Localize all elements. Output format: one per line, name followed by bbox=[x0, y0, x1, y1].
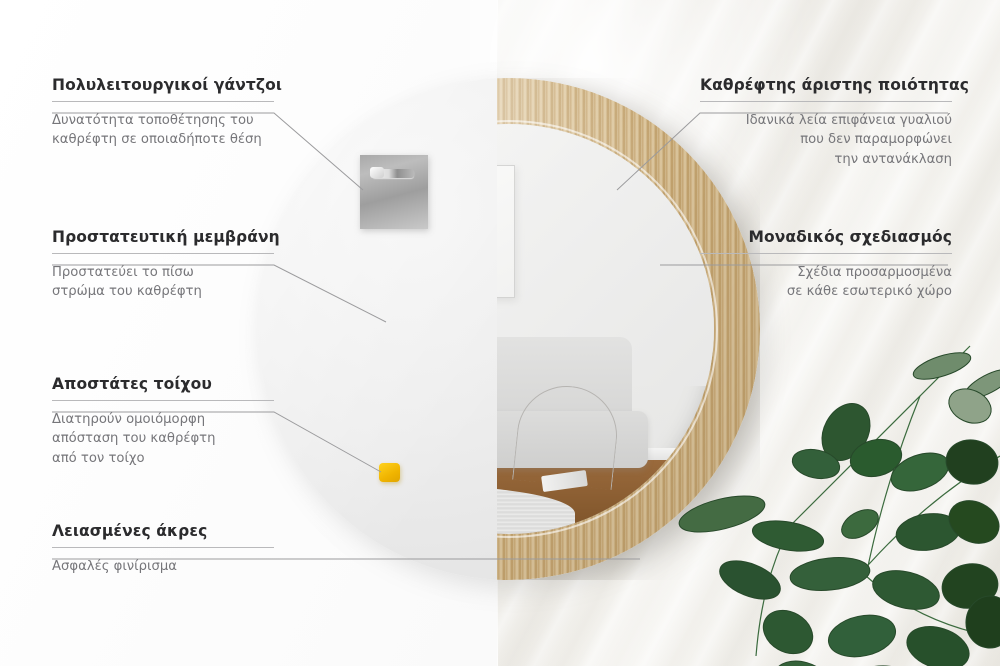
hook-nub-icon bbox=[370, 167, 384, 178]
callout-title: Πολυλειτουργικοί γάντζοι bbox=[52, 76, 274, 94]
callout-protective-membrane: Προστατευτική μεμβράνη Προστατεύει το πί… bbox=[52, 228, 274, 302]
callout-unique-design: Μοναδικός σχεδιασμός Σχέδια προσαρμοσμέν… bbox=[700, 228, 952, 302]
callout-smoothed-edges: Λειασμένες άκρες Ασφαλές φινίρισμα bbox=[52, 522, 274, 576]
callout-desc: Σχέδια προσαρμοσμένασε κάθε εσωτερικό χώ… bbox=[700, 263, 952, 302]
callout-rule bbox=[52, 400, 274, 401]
callout-wall-spacers: Αποστάτες τοίχου Διατηρούν ομοιόμορφηαπό… bbox=[52, 375, 274, 468]
callout-title: Μοναδικός σχεδιασμός bbox=[700, 228, 952, 246]
callout-desc: Ασφαλές φινίρισμα bbox=[52, 557, 274, 576]
infographic-canvas: Πολυλειτουργικοί γάντζοι Δυνατότητα τοπο… bbox=[0, 0, 1000, 666]
callout-top-quality-mirror: Καθρέφτης άριστης ποιότητας Ιδανικά λεία… bbox=[700, 76, 952, 169]
callout-rule bbox=[700, 253, 952, 254]
callout-desc: Δυνατότητα τοποθέτησης τουκαθρέφτη σε οπ… bbox=[52, 111, 274, 150]
callout-title: Προστατευτική μεμβράνη bbox=[52, 228, 274, 246]
callout-desc: Προστατεύει το πίσωστρώμα του καθρέφτη bbox=[52, 263, 274, 302]
wall-spacer-part bbox=[379, 463, 400, 482]
callout-title: Αποστάτες τοίχου bbox=[52, 375, 274, 393]
callout-multifunctional-hooks: Πολυλειτουργικοί γάντζοι Δυνατότητα τοπο… bbox=[52, 76, 274, 150]
callout-rule bbox=[52, 253, 274, 254]
product-mirror bbox=[258, 78, 760, 580]
callout-title: Λειασμένες άκρες bbox=[52, 522, 274, 540]
callout-rule bbox=[700, 101, 952, 102]
callout-title: Καθρέφτης άριστης ποιότητας bbox=[700, 76, 952, 94]
callout-desc: Ιδανικά λεία επιφάνεια γυαλιούπου δεν πα… bbox=[700, 111, 952, 169]
callout-rule bbox=[52, 547, 274, 548]
callout-rule bbox=[52, 101, 274, 102]
hanging-hook-plate bbox=[360, 155, 428, 229]
callout-desc: Διατηρούν ομοιόμορφηαπόσταση του καθρέφτ… bbox=[52, 410, 274, 468]
